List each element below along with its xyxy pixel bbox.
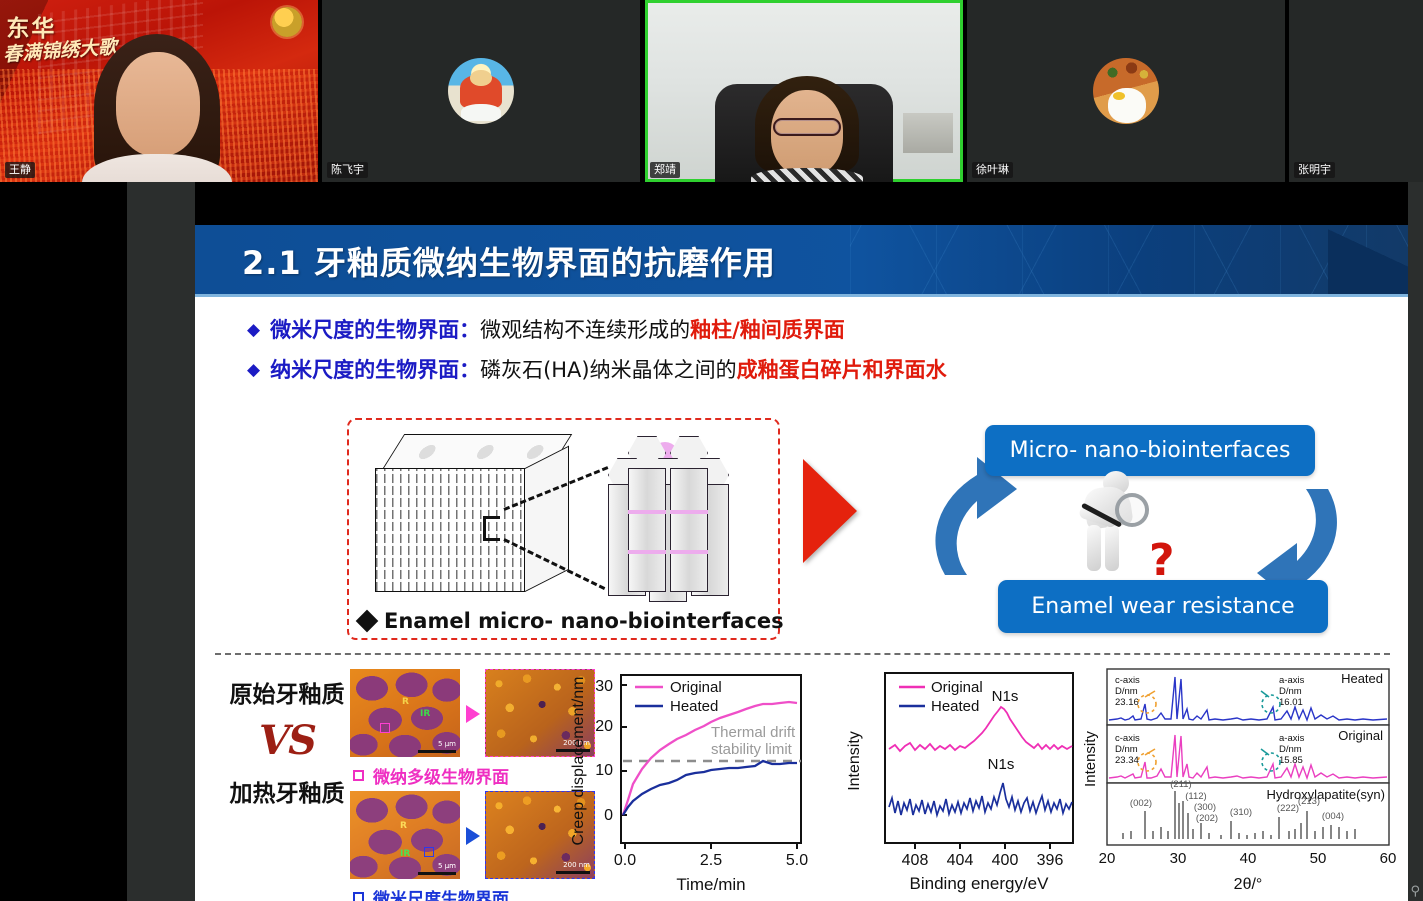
cube-front-face xyxy=(375,468,525,592)
avatar xyxy=(1093,58,1159,124)
xrd-annotation-heated-a: a-axisD/nm16.01 xyxy=(1279,675,1305,708)
zoom-region-marker xyxy=(483,516,500,541)
xrd-annotation-original-c: c-axisD/nm23.34 xyxy=(1115,733,1140,766)
svg-text:a-axis: a-axis xyxy=(1279,733,1305,744)
bottom-results-row: 原始牙釉质 VS 加热牙釉质 R IR 5 μm 200 nm 微纳多级生物界面 xyxy=(195,665,1408,901)
svg-text:23.16: 23.16 xyxy=(1115,697,1139,708)
caption-nano-interface: 微纳多级生物界面 xyxy=(353,763,509,788)
bullet-1-highlight: 釉柱/釉间质界面 xyxy=(690,318,845,342)
heated-enamel-label: 加热牙釉质 xyxy=(217,774,357,808)
creep-legend-1: Heated xyxy=(670,698,718,715)
enamel-schematic-box: Enamel micro- nano-biointerfaces xyxy=(347,418,780,640)
eyeglasses-icon xyxy=(773,118,841,136)
slide-top-gap xyxy=(195,182,1408,225)
horizontal-divider xyxy=(215,653,1390,655)
xps-xtick-396: 396 xyxy=(1037,852,1064,869)
search-icon[interactable]: ⚲ xyxy=(1410,883,1420,899)
xrd-panel-label-original: Original xyxy=(1338,728,1383,743)
xrd-xtick-30: 30 xyxy=(1170,850,1187,867)
comparison-labels: 原始牙釉质 VS 加热牙釉质 xyxy=(217,675,357,808)
creep-xtick-1: 2.5 xyxy=(700,852,722,869)
hap-prism-front xyxy=(628,468,666,592)
xrd-xtick-40: 40 xyxy=(1240,850,1257,867)
interface-band xyxy=(628,510,666,514)
figure-leg xyxy=(1105,525,1119,571)
creep-chart-svg: 0 10 20 30 0.0 2.5 5.0 Time/min Creep di… xyxy=(563,665,825,901)
afm-tag-ir: IR xyxy=(420,709,430,719)
bullet-item-2: ◆ 纳米尺度的生物界面：磷灰石(HA)纳米晶体之间的成釉蛋白碎片和界面水 xyxy=(195,349,1408,389)
creep-ylabel: Creep displacement/nm xyxy=(570,677,587,846)
cycle-diagram: Micro- nano-biointerfaces Enamel wear re… xyxy=(885,415,1390,647)
afm-tag-r: R xyxy=(402,697,409,707)
afm-tag-ir: IR xyxy=(400,849,410,859)
svg-text:c-axis: c-axis xyxy=(1115,675,1140,686)
avatar xyxy=(448,58,514,124)
original-enamel-label: 原始牙釉质 xyxy=(217,675,357,709)
blue-arrow-icon xyxy=(466,827,480,845)
xrd-panel-label-reference: Hydroxylapatite(syn) xyxy=(1267,787,1386,802)
bullet-2-mid: 磷灰石(HA)纳米晶体之间的 xyxy=(480,358,737,382)
cycle-bottom-box-label: Enamel wear resistance xyxy=(1031,594,1294,619)
vs-label: VS xyxy=(217,717,357,764)
svg-text:16.01: 16.01 xyxy=(1279,697,1303,708)
creep-xtick-2: 5.0 xyxy=(786,852,808,869)
caption-micro-interface: 微米尺度生物界面 xyxy=(353,885,509,901)
geometric-pattern-decoration xyxy=(850,225,1408,297)
scalebar-micro: 5 μm xyxy=(418,741,456,753)
creep-ytick-30: 30 xyxy=(595,678,613,695)
interface-band xyxy=(670,510,708,514)
xrd-xtick-60: 60 xyxy=(1380,850,1397,867)
creep-ytick-10: 10 xyxy=(595,762,613,779)
solid-diamond-icon xyxy=(356,610,379,633)
square-bullet-icon xyxy=(353,892,364,901)
enamel-rod-rows xyxy=(376,469,524,591)
afm-image-heated-micro: R IR 5 μm xyxy=(350,791,460,879)
bullet-1-key: 微米尺度的生物界面： xyxy=(270,318,480,342)
xps-xtick-408: 408 xyxy=(902,852,929,869)
shelf-object xyxy=(903,113,954,153)
left-side-panel xyxy=(127,182,195,901)
cycle-top-box-label: Micro- nano-biointerfaces xyxy=(1010,438,1291,463)
xrd-refl-112: (112) xyxy=(1185,791,1206,802)
caption-nano-text: 微纳多级生物界面 xyxy=(373,763,509,788)
slide-title-bar: 2.1 牙釉质微纳生物界面的抗磨作用 xyxy=(195,225,1408,297)
xps-legend-0: Original xyxy=(931,679,983,696)
xps-peak-label-original: N1s xyxy=(992,688,1019,705)
participant-tile-3[interactable]: 郑靖 xyxy=(645,0,963,182)
bullet-item-1: ◆ 微米尺度的生物界面：微观结构不连续形成的釉柱/釉间质界面 xyxy=(195,309,1408,349)
afm-image-original-micro: R IR 5 μm xyxy=(350,669,460,757)
participant-name-label: 徐叶琳 xyxy=(972,162,1013,178)
red-arrow-icon xyxy=(803,459,857,563)
svg-text:a-axis: a-axis xyxy=(1279,675,1305,686)
creep-xtick-0: 0.0 xyxy=(614,852,636,869)
svg-text:D/nm: D/nm xyxy=(1115,686,1138,697)
diamond-bullet-icon: ◆ xyxy=(247,322,260,339)
creep-xlabel: Time/min xyxy=(676,875,745,894)
participant-tile-4[interactable]: 徐叶琳 xyxy=(967,0,1285,182)
xrd-chart-svg: Intensity Heated Original Hydroxylapatit… xyxy=(1083,663,1403,901)
svg-text:c-axis: c-axis xyxy=(1115,733,1140,744)
caption-micro-text: 微米尺度生物界面 xyxy=(373,885,509,901)
svg-text:15.85: 15.85 xyxy=(1279,755,1303,766)
thermal-drift-annotation-line1: Thermal drift xyxy=(711,724,796,741)
window-left-background xyxy=(0,182,127,901)
xrd-xlabel: 2θ/° xyxy=(1234,876,1263,893)
xps-xlabel: Binding energy/eV xyxy=(910,874,1050,893)
pink-arrow-icon xyxy=(466,705,480,723)
presentation-slide: 2.1 牙釉质微纳生物界面的抗磨作用 ◆ 微米尺度的生物界面：微观结构不连续形成… xyxy=(195,225,1408,901)
xps-legend-1: Heated xyxy=(931,698,979,715)
xrd-pattern-chart: Intensity Heated Original Hydroxylapatit… xyxy=(1083,663,1403,901)
hydroxyapatite-prism-cluster xyxy=(604,432,734,612)
cycle-bottom-box[interactable]: Enamel wear resistance xyxy=(998,580,1328,633)
schematic-diagram: Enamel micro- nano-biointerfaces Micro- … xyxy=(195,415,1408,653)
svg-text:D/nm: D/nm xyxy=(1279,686,1302,697)
bullet-list: ◆ 微米尺度的生物界面：微观结构不连续形成的釉柱/釉间质界面 ◆ 纳米尺度的生物… xyxy=(195,309,1408,389)
xps-peak-label-heated: N1s xyxy=(988,756,1015,773)
enamel-box-caption: Enamel micro- nano-biointerfaces xyxy=(359,609,784,633)
creep-legend-0: Original xyxy=(670,679,722,696)
xps-ylabel: Intensity xyxy=(846,731,863,791)
person-with-magnifier-figure: ? xyxy=(1071,471,1181,586)
bullet-2-highlight: 成釉蛋白碎片和界面水 xyxy=(737,358,947,382)
xrd-refl-310: (310) xyxy=(1230,807,1252,818)
xps-chart-svg: Intensity 408 404 400 396 Binding energy… xyxy=(843,665,1093,901)
hap-prism-front xyxy=(670,468,708,592)
svg-text:23.34: 23.34 xyxy=(1115,755,1139,766)
participant-name-label: 王静 xyxy=(5,162,35,178)
interface-band xyxy=(670,550,708,554)
figure-leg xyxy=(1087,525,1101,571)
xrd-panel-label-heated: Heated xyxy=(1341,671,1383,686)
slide-title: 2.1 牙釉质微纳生物界面的抗磨作用 xyxy=(242,238,776,284)
xps-spectrum-chart: Intensity 408 404 400 396 Binding energy… xyxy=(843,665,1093,901)
participant-person-3 xyxy=(751,76,863,182)
participant-tile-5[interactable]: 张明宇 xyxy=(1289,0,1423,182)
participant-name-label: 张明宇 xyxy=(1294,162,1335,178)
participant-name-label: 陈飞宇 xyxy=(327,162,368,178)
afm-roi-box xyxy=(380,723,390,733)
creep-ytick-0: 0 xyxy=(604,807,613,824)
xrd-refl-004: (004) xyxy=(1322,811,1344,822)
xrd-refl-002: (002) xyxy=(1130,798,1152,809)
corner-wedge-decoration xyxy=(1328,225,1408,297)
xrd-xtick-50: 50 xyxy=(1310,850,1327,867)
video-participant-strip: 东华 春满锦绣大歌 王静 陈飞宇 xyxy=(0,0,1423,182)
afm-roi-box xyxy=(424,847,434,857)
bullet-1-mid: 微观结构不连续形成的 xyxy=(480,318,690,342)
enamel-box-caption-text: Enamel micro- nano-biointerfaces xyxy=(384,609,784,633)
diamond-bullet-icon: ◆ xyxy=(247,362,260,379)
interface-band xyxy=(628,550,666,554)
participant-tile-1[interactable]: 东华 春满锦绣大歌 王静 xyxy=(0,0,318,182)
xps-xtick-400: 400 xyxy=(992,852,1019,869)
participant-name-label: 郑靖 xyxy=(650,162,680,178)
square-bullet-icon xyxy=(353,770,364,781)
xrd-refl-202: (202) xyxy=(1196,813,1218,824)
thermal-drift-annotation-line2: stability limit xyxy=(711,741,793,758)
participant-person-1 xyxy=(82,34,232,182)
svg-text:D/nm: D/nm xyxy=(1279,744,1302,755)
xrd-refl-213: (213) xyxy=(1298,796,1320,807)
creep-displacement-chart: 0 10 20 30 0.0 2.5 5.0 Time/min Creep di… xyxy=(563,665,825,901)
xrd-annotation-heated-c: c-axisD/nm23.16 xyxy=(1115,675,1140,708)
question-mark: ? xyxy=(1149,539,1175,583)
xrd-annotation-original-a: a-axisD/nm15.85 xyxy=(1279,733,1305,766)
xrd-xtick-20: 20 xyxy=(1099,850,1116,867)
bullet-2-key: 纳米尺度的生物界面： xyxy=(270,358,480,382)
enamel-cube-illustration xyxy=(375,434,575,594)
xrd-refl-300: (300) xyxy=(1194,802,1216,813)
title-underline xyxy=(195,294,1408,297)
screen-root: 东华 春满锦绣大歌 王静 陈飞宇 xyxy=(0,0,1423,901)
xps-xtick-404: 404 xyxy=(947,852,974,869)
scalebar-micro: 5 μm xyxy=(418,863,456,875)
participant-tile-2[interactable]: 陈飞宇 xyxy=(322,0,640,182)
creep-ytick-20: 20 xyxy=(595,718,613,735)
right-side-panel: ⚲ xyxy=(1408,182,1423,901)
cycle-top-box[interactable]: Micro- nano-biointerfaces xyxy=(985,425,1315,476)
xrd-refl-222: (222) xyxy=(1277,803,1299,814)
xrd-refl-211: (211) xyxy=(1170,779,1191,790)
svg-text:D/nm: D/nm xyxy=(1115,744,1138,755)
xrd-ylabel: Intensity xyxy=(1083,731,1099,787)
afm-tag-r: R xyxy=(400,821,407,831)
